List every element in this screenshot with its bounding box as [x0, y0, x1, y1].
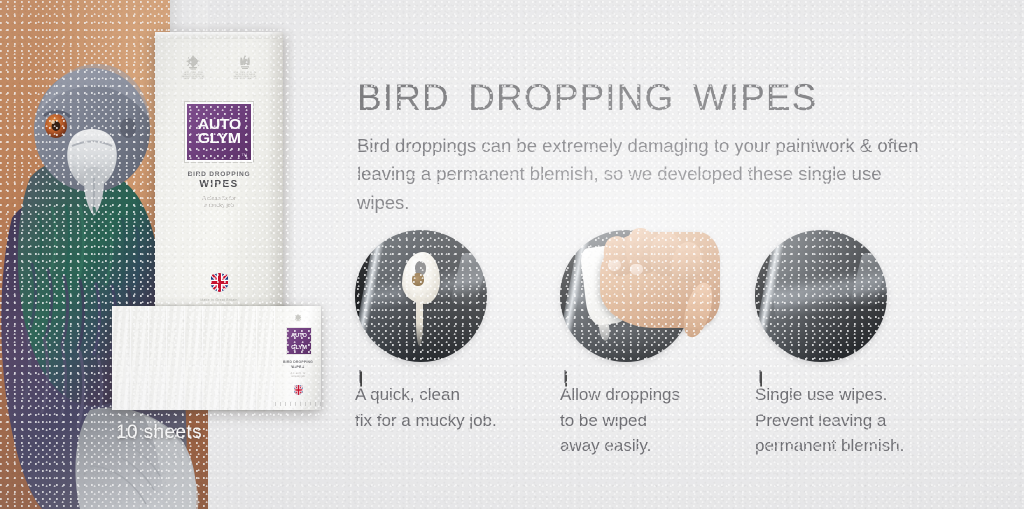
- step-2: | Allow droppings to be wiped away easil…: [560, 230, 760, 362]
- clean-paintwork-photo: [755, 230, 887, 362]
- fingernail: [630, 264, 643, 275]
- step-1: | A quick, clean fix for a mucky job.: [355, 230, 555, 362]
- advertisement-banner: BY APPOINTMENT TO HER MAJESTY THE QUEEN …: [0, 0, 1024, 509]
- step-caption: Single use wipes. Prevent leaving a perm…: [755, 382, 955, 459]
- body-copy: Bird droppings can be extremely damaging…: [357, 132, 937, 218]
- step-caption: A quick, clean fix for a mucky job.: [355, 382, 555, 433]
- step-caption: Allow droppings to be wiped away easily.: [560, 382, 760, 459]
- sheets-count-label: 10 sheets: [116, 422, 202, 444]
- bird-dropping-on-paintwork-photo: [355, 230, 487, 362]
- bird-dropping: [402, 252, 440, 304]
- step-3: | Single use wipes. Prevent leaving a pe…: [755, 230, 955, 362]
- page-title: BIRD DROPPING WIPES: [357, 78, 817, 118]
- hand-and-wipe: [560, 230, 692, 362]
- hand-wiping-paintwork-photo: [560, 230, 692, 362]
